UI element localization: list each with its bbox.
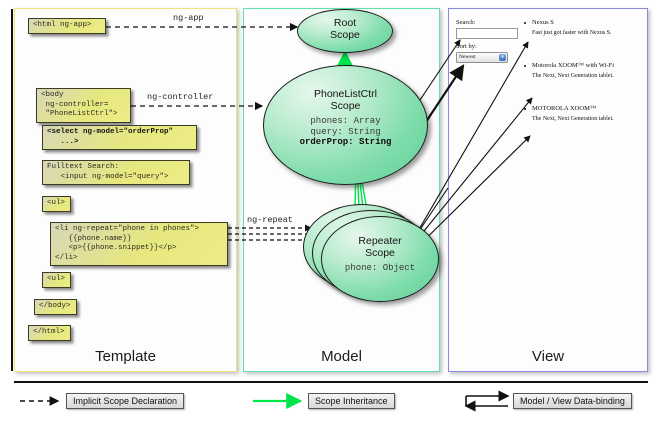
scope-prop-orderprop: orderProp: String	[264, 137, 427, 148]
sort-by-select[interactable]: Newest ▾	[456, 52, 508, 63]
code-box-body-close: </body>	[34, 299, 77, 315]
phone-name: Motorola XOOM™ with Wi-Fi	[532, 62, 614, 69]
legend-divider	[14, 381, 648, 383]
scope-phonelistctrl-props: phones: Array query: String orderProp: S…	[264, 116, 427, 148]
left-accent-bar	[11, 9, 13, 371]
scope-phonelistctrl: PhoneListCtrl Scope phones: Array query:…	[263, 65, 428, 185]
label-ng-controller: ng-controller	[147, 92, 213, 102]
scope-prop-phones: phones: Array	[264, 116, 427, 127]
scope-phonelistctrl-title-1: PhoneListCtrl	[264, 88, 427, 100]
phone-name: Nexus S	[532, 19, 554, 26]
scope-root-title-2: Scope	[298, 29, 392, 41]
code-box-li-repeat: <li ng-repeat="phone in phones"> {{phone…	[50, 222, 228, 266]
search-input[interactable]	[456, 28, 518, 39]
code-box-select: <select ng-model="orderProp" ...>	[42, 125, 197, 150]
panel-template: Template	[14, 8, 237, 372]
scope-prop-query: query: String	[264, 127, 427, 138]
label-ng-repeat: ng-repeat	[247, 215, 293, 225]
label-ng-app: ng-app	[173, 13, 204, 23]
legend-item-scope-inheritance: Scope Inheritance	[308, 393, 395, 409]
legend-item-implicit-scope-declaration: Implicit Scope Declaration	[66, 393, 184, 409]
panel-template-title: Template	[15, 348, 236, 365]
code-box-ul-close: <ul>	[42, 272, 71, 288]
panel-model-title: Model	[244, 348, 439, 365]
legend-item-model-view-data-binding: Model / View Data-binding	[513, 393, 632, 409]
scope-repeater-props: phone: Object	[322, 263, 438, 274]
scope-repeater-title-2: Scope	[322, 247, 438, 259]
view-search-label: Search:	[456, 19, 476, 26]
chevron-down-icon: ▾	[499, 54, 506, 61]
phone-name: MOTOROLA XOOM™	[532, 105, 596, 112]
diagram-canvas: Template Model View	[0, 0, 661, 425]
code-box-html-open: <html ng-app>	[28, 18, 106, 34]
phone-snippet: Fast just got faster with Nexus S.	[532, 30, 612, 36]
code-box-html-close: </html>	[28, 325, 71, 341]
scope-phonelistctrl-title-2: Scope	[264, 100, 427, 112]
panel-model: Model	[243, 8, 440, 372]
view-sort-label: Sort by:	[456, 43, 477, 50]
panel-view-title: View	[449, 348, 647, 365]
code-box-body-open: <body ng-controller= "PhoneListCtrl">	[36, 88, 131, 123]
code-box-ul-open: <ul>	[42, 196, 71, 212]
phone-snippet: The Next, Next Generation tablet.	[532, 73, 614, 79]
scope-repeater: Repeater Scope phone: Object	[321, 216, 439, 302]
scope-prop-phone: phone: Object	[322, 263, 438, 274]
scope-root-title-1: Root	[298, 17, 392, 29]
legend-double-arrow-icon	[466, 396, 508, 406]
scope-repeater-title-1: Repeater	[322, 235, 438, 247]
code-box-search: Fulltext Search: <input ng-model="query"…	[42, 160, 190, 185]
sort-by-selected-value: Newest	[459, 54, 476, 60]
phone-snippet: The Next, Next Generation tablet.	[532, 116, 614, 122]
scope-root: Root Scope	[297, 9, 393, 53]
